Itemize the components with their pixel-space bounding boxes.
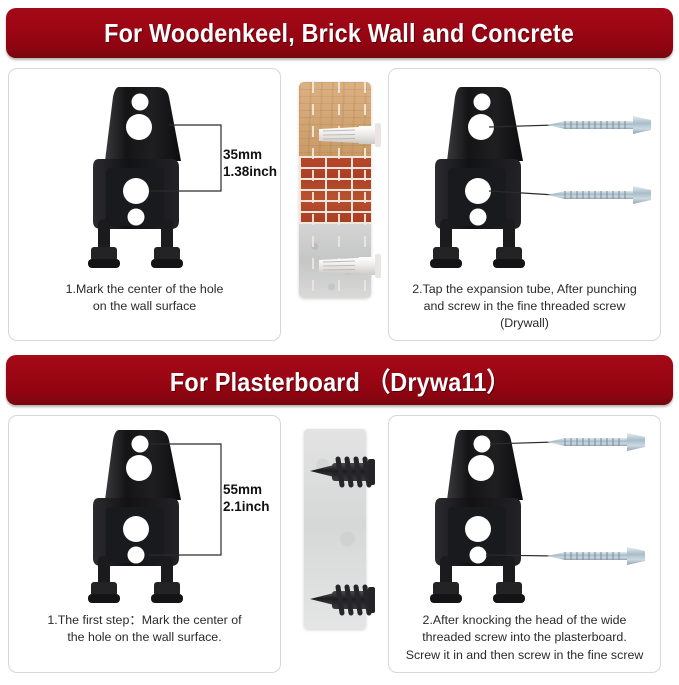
- bracket-foot-left-lower: [430, 259, 462, 268]
- bracket-hole-bottom-large: [465, 516, 491, 542]
- fine-threaded-screw-lower: [547, 186, 651, 204]
- bracket-foot-left-upper: [91, 582, 117, 596]
- section-row-plasterboard: 55mm 2.1inch 1.The first step：Mark the c…: [0, 415, 679, 672]
- figure-bracket-with-screws-top: [389, 69, 660, 281]
- caption-woodenkeel-step1: 1.Mark the center of the hole on the wal…: [9, 281, 280, 323]
- figure-bracket-with-screws-bottom: [389, 416, 660, 612]
- dimension-imperial-value: 1.38inch: [223, 164, 277, 181]
- caption-line: 2.Tap the expansion tube, After punching: [397, 281, 652, 298]
- caption-line: 1.Mark the center of the hole: [17, 281, 272, 298]
- dimension-callout-35mm: 35mm 1.38inch: [223, 147, 277, 181]
- instruction-sheet: For Woodenkeel, Brick Wall and Concrete: [0, 8, 679, 685]
- bracket-hole-bottom-large: [123, 516, 149, 542]
- section-row-woodenkeel: 35mm 1.38inch 1.Mark the center of the h…: [0, 68, 679, 341]
- bracket-hole-bottom-small: [128, 547, 145, 564]
- bracket-hole-bottom-large: [123, 178, 149, 204]
- bracket-foot-right-upper: [154, 247, 180, 261]
- caption-plasterboard-step1: 1.The first step：Mark the center of the …: [9, 612, 280, 654]
- caption-line: and screw in the fine threaded screw: [397, 298, 652, 315]
- panel-plasterboard-step1: 55mm 2.1inch 1.The first step：Mark the c…: [8, 415, 281, 672]
- bracket-foot-left-lower: [430, 594, 462, 603]
- bracket-foot-left-upper: [91, 247, 117, 261]
- bracket-foot-right-upper: [496, 247, 522, 261]
- dimension-metric-value: 55mm: [223, 482, 270, 499]
- dimension-metric-value: 35mm: [223, 147, 277, 164]
- fine-threaded-screw-lower: [547, 547, 645, 565]
- bracket-screws-svg: [389, 416, 660, 612]
- section-banner-woodenkeel: For Woodenkeel, Brick Wall and Concrete: [6, 8, 673, 58]
- bracket-hole-top-large: [126, 455, 152, 481]
- caption-line: Screw it in and then screw in the fine s…: [397, 647, 652, 664]
- caption-line: on the wall surface: [17, 298, 272, 315]
- wall-slab: [299, 82, 371, 298]
- bracket-hole-bottom-small: [470, 209, 487, 226]
- bracket-foot-right-lower: [151, 259, 183, 268]
- bracket-foot-right-upper: [154, 582, 180, 596]
- caption-woodenkeel-step2: 2.Tap the expansion tube, After punching…: [389, 281, 660, 340]
- bracket-hole-top-small: [474, 94, 491, 111]
- bracket-foot-left-lower: [88, 259, 120, 268]
- bracket-hole-bottom-small: [470, 547, 487, 564]
- plasterboard-slab: [304, 429, 366, 629]
- panel-plasterboard-step2: 2.After knocking the head of the wide th…: [388, 415, 661, 672]
- banner-title-plasterboard: For Plasterboard （Drywa11）: [169, 362, 509, 399]
- dimension-imperial-value: 2.1inch: [223, 499, 270, 516]
- panel-woodenkeel-step1: 35mm 1.38inch 1.Mark the center of the h…: [8, 68, 281, 341]
- bracket-screws-svg: [389, 69, 660, 281]
- section-banner-plasterboard: For Plasterboard （Drywa11）: [6, 355, 673, 405]
- dimension-callout-55mm: 55mm 2.1inch: [223, 482, 270, 516]
- bracket-foot-right-lower: [493, 594, 525, 603]
- bracket-hole-bottom-small: [128, 209, 145, 226]
- caption-line: the hole on the wall surface.: [17, 629, 272, 646]
- banner-title-woodenkeel: For Woodenkeel, Brick Wall and Concrete: [105, 18, 575, 49]
- bracket-hole-bottom-large: [465, 178, 491, 204]
- bracket-hole-top-large: [468, 455, 494, 481]
- fine-threaded-screw-upper: [547, 433, 645, 451]
- bracket-foot-left-upper: [433, 582, 459, 596]
- bracket-hole-top-small: [474, 436, 491, 453]
- caption-line: 2.After knocking the head of the wide: [397, 612, 652, 629]
- fine-threaded-screw-upper: [547, 116, 651, 134]
- figure-bracket-dimension-55mm: 55mm 2.1inch: [9, 416, 280, 612]
- caption-line: threaded screw into the plasterboard.: [397, 629, 652, 646]
- brick-layer: [299, 156, 371, 224]
- panel-woodenkeel-step2: 2.Tap the expansion tube, After punching…: [388, 68, 661, 341]
- bracket-foot-left-lower: [88, 594, 120, 603]
- bracket-foot-right-lower: [151, 594, 183, 603]
- bracket-hole-top-large: [126, 114, 152, 140]
- bracket-hole-top-small: [132, 436, 149, 453]
- figure-bracket-dimension-35mm: 35mm 1.38inch: [9, 69, 280, 281]
- figure-wall-cross-section: [281, 68, 388, 341]
- bracket-foot-right-upper: [496, 582, 522, 596]
- caption-plasterboard-step2: 2.After knocking the head of the wide th…: [389, 612, 660, 671]
- caption-line: (Drywall): [397, 315, 652, 332]
- bracket-foot-left-upper: [433, 247, 459, 261]
- figure-plasterboard-panel: [281, 415, 388, 672]
- bracket-hole-top-small: [132, 94, 149, 111]
- caption-line: 1.The first step：Mark the center of: [17, 612, 272, 629]
- bracket-foot-right-lower: [493, 259, 525, 268]
